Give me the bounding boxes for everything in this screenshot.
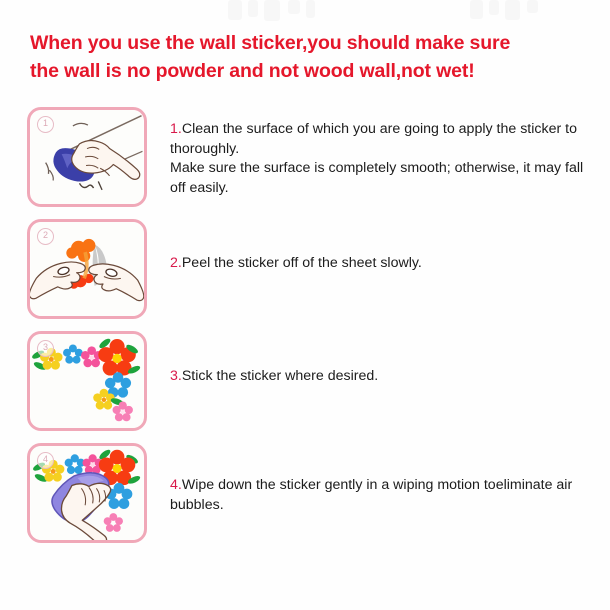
step-2-text: 2.Peel the sticker off of the sheet slow… [170,219,610,274]
step-4-text: 4.Wipe down the sticker gently in a wipi… [170,443,610,515]
heading-line-1: When you use the wall sticker,you should… [30,32,510,54]
step-3-text: 3.Stick the sticker where desired. [170,331,610,387]
step-4-illustration-wrap: 4 [27,443,147,543]
page-heading: When you use the wall sticker,you should… [30,29,605,85]
step-1-illustration-wrap: 1 [27,107,147,207]
step-3-badge: 3 [37,340,54,357]
step-1-number: 1. [170,121,182,137]
step-2-panel: 2 [27,219,147,319]
step-4-body: Wipe down the sticker gently in a wiping… [170,477,572,513]
step-3-body: Stick the sticker where desired. [182,368,378,384]
step-4-badge: 4 [37,452,54,469]
step-3-panel: 3 [27,331,147,431]
step-row: 1 [0,107,610,207]
step-2-badge: 2 [37,228,54,245]
steps-list: 1 [0,107,610,555]
step-3-number: 3. [170,368,182,384]
step-2-illustration-wrap: 2 [27,219,147,319]
step-2-number: 2. [170,255,182,271]
step-1-body: Clean the surface of which you are going… [170,121,583,196]
watermark-smudge [0,0,610,26]
step-row: 4 [0,443,610,543]
step-3-illustration-wrap: 3 [27,331,147,431]
step-4-number: 4. [170,477,182,493]
step-row: 3 [0,331,610,431]
instruction-sheet: When you use the wall sticker,you should… [0,0,610,610]
step-row: 2 [0,219,610,319]
step-2-body: Peel the sticker off of the sheet slowly… [182,255,422,271]
step-1-panel: 1 [27,107,147,207]
step-1-text: 1.Clean the surface of which you are goi… [170,107,610,198]
step-1-badge: 1 [37,116,54,133]
step-4-panel: 4 [27,443,147,543]
heading-line-2: the wall is no powder and not wood wall,… [30,60,475,82]
